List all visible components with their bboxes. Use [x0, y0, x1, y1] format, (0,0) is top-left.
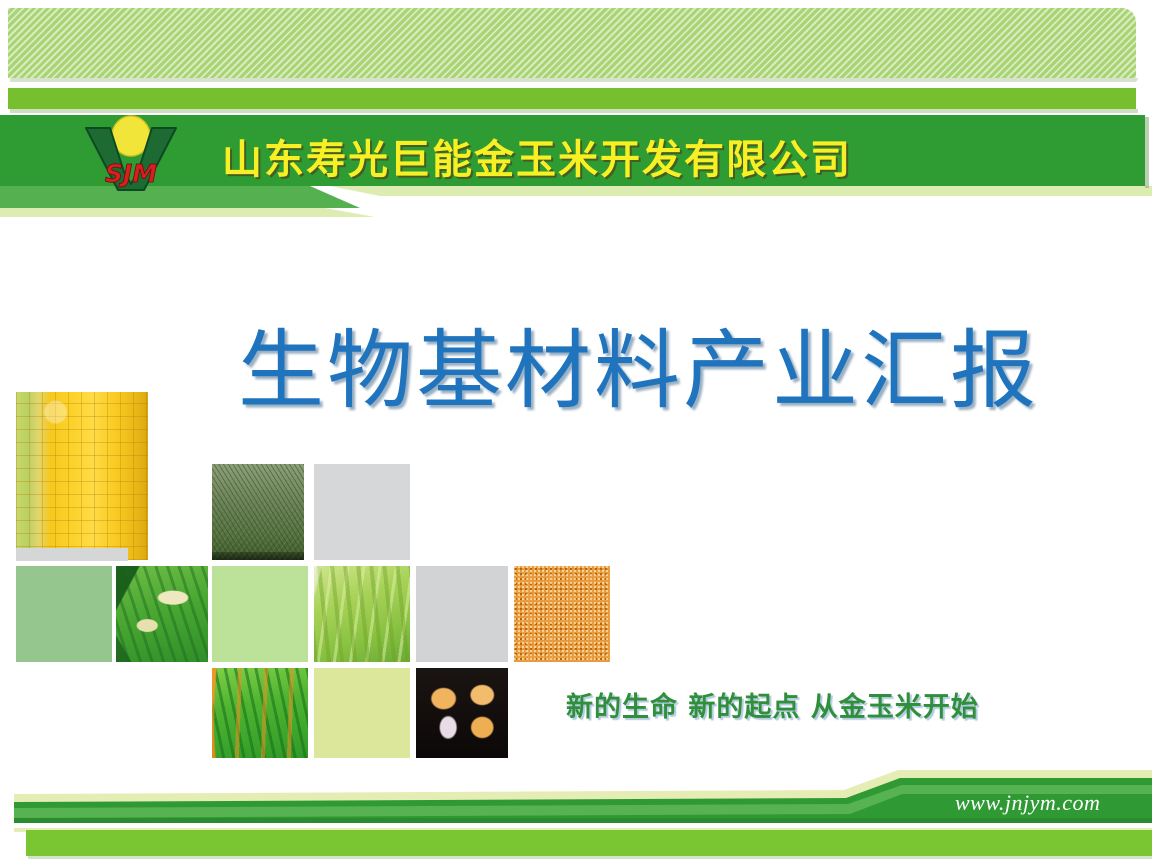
bottom-bright-green-bar [26, 830, 1152, 856]
header-bar-right-edge [1145, 117, 1149, 188]
top-hatched-band [8, 8, 1136, 78]
gray-tile-2 [416, 566, 508, 662]
top-bright-green-bar [8, 88, 1136, 109]
corn-kernels-photo [514, 566, 610, 662]
light-green-tile [212, 566, 308, 662]
sage-green-tile [16, 566, 112, 662]
corn-rows-photo [212, 668, 308, 758]
pale-yellow-tile [314, 668, 410, 758]
bottom-bright-bar-shadow [28, 856, 1152, 859]
corn-cob-base-strip [16, 548, 128, 561]
gray-tile-1 [314, 464, 410, 560]
company-logo: SJM [72, 112, 190, 192]
presentation-slide: SJM 山东寿光巨能金玉米开发有限公司 生物基材料产业汇报 新的生命 新的起点 … [0, 0, 1152, 864]
slide-tagline: 新的生命 新的起点 从金玉米开始 [566, 685, 979, 724]
logo-sjm-text: SJM [105, 159, 157, 188]
logo-mark-icon: SJM [72, 112, 190, 192]
corn-field-photo [212, 464, 304, 560]
company-name-heading: 山东寿光巨能金玉米开发有限公司 [222, 127, 852, 185]
slide-main-title: 生物基材料产业汇报 [238, 300, 1039, 425]
footer-website-url[interactable]: www.jnjym.com [955, 790, 1100, 816]
top-hatched-band-shadow [10, 78, 1138, 82]
corn-seeds-photo [416, 668, 508, 758]
corn-silk-photo [116, 566, 208, 662]
corn-cob-photo [16, 392, 148, 560]
bottom-white-gap [14, 823, 1152, 828]
corn-leaves-photo [314, 566, 410, 662]
